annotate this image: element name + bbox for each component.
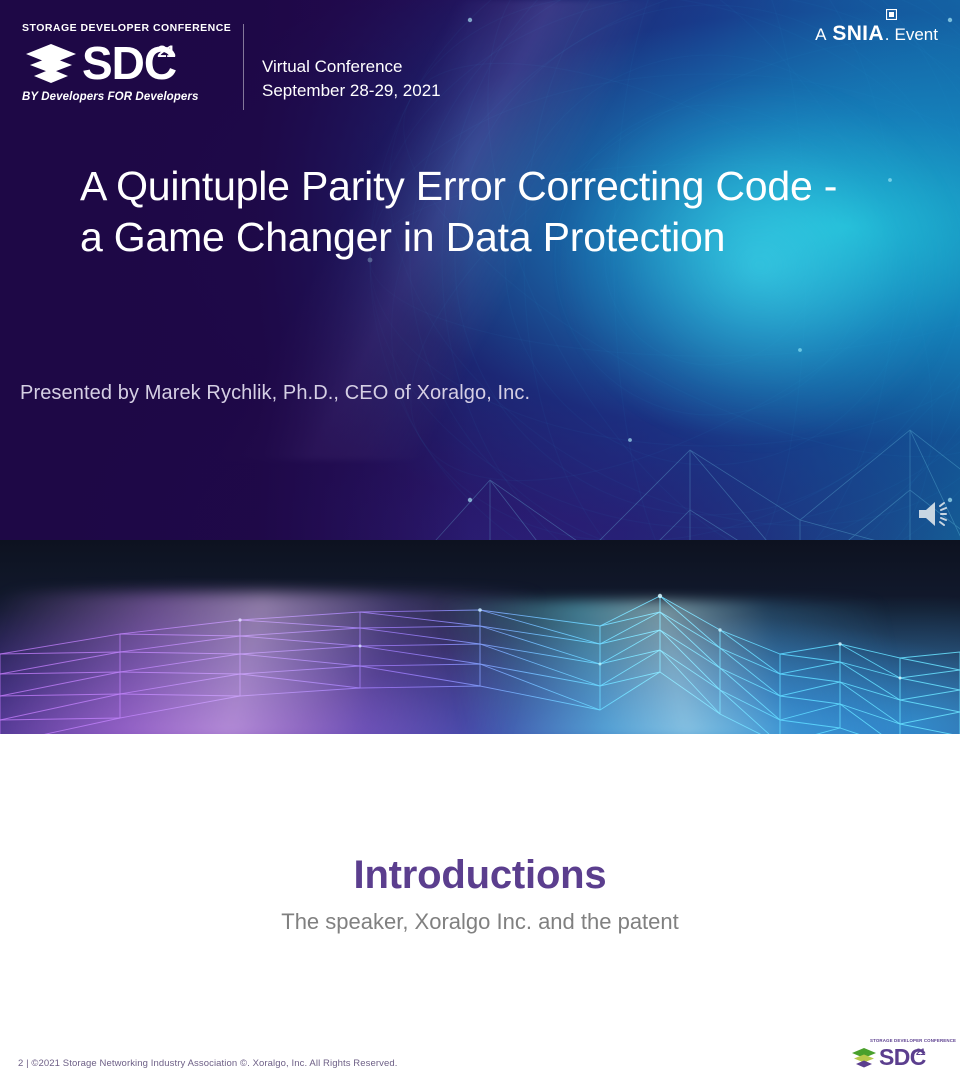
layers-stack-icon: [22, 40, 80, 86]
sdc-logo-tagline: BY Developers FOR Developers: [22, 90, 234, 104]
page-title: A Quintuple Parity Error Correcting Code…: [80, 161, 870, 263]
header-divider: [243, 24, 244, 110]
sdc-footer-logo-sd: SD: [879, 1044, 910, 1070]
snia-event-logo: A SNIA . Event: [815, 22, 938, 48]
sdc-logo-year: 21: [157, 43, 175, 60]
sdc-footer-logo: STORAGE DEVELOPER CONFERENCE SDC21: [850, 1038, 946, 1072]
sdc-logo: STORAGE DEVELOPER CONFERENCE SDC21 BY De…: [22, 22, 234, 112]
section-slide: Introductions The speaker, Xoralgo Inc. …: [0, 540, 960, 1080]
sdc-logo-c-wrap: C21: [144, 40, 176, 86]
presenter-line: Presented by Marek Rychlik, Ph.D., CEO o…: [20, 379, 840, 407]
snia-wordmark: SNIA: [832, 22, 883, 46]
sdc-footer-logo-c-wrap: C21: [910, 1046, 926, 1069]
sdc-footer-logo-letters: SDC21: [879, 1046, 926, 1069]
conference-dates: September 28-29, 2021: [262, 79, 441, 103]
snia-dot: .: [885, 25, 890, 45]
snia-prefix: A: [815, 25, 826, 45]
sdc-logo-kicker: STORAGE DEVELOPER CONFERENCE: [22, 22, 234, 35]
title-slide: STORAGE DEVELOPER CONFERENCE SDC21 BY De…: [0, 0, 960, 540]
banner-image: [0, 540, 960, 734]
sdc-footer-logo-year: 21: [916, 1048, 925, 1057]
section-subtitle: The speaker, Xoralgo Inc. and the patent: [0, 907, 960, 937]
speaker-audio-icon[interactable]: [915, 497, 955, 531]
sdc-logo-sd: SD: [82, 37, 144, 89]
sdc-logo-letters: SDC21: [82, 40, 176, 86]
slide-footer: 2 | ©2021 Storage Networking Industry As…: [18, 1058, 398, 1069]
section-title: Introductions: [0, 851, 960, 899]
cyan-light-beam: [430, 600, 960, 734]
layers-stack-icon: [850, 1046, 878, 1068]
conference-type: Virtual Conference: [262, 55, 441, 79]
snia-pixel-mark-icon: [886, 9, 897, 20]
conference-info: Virtual Conference September 28-29, 2021: [262, 55, 441, 103]
sdc-footer-logo-mark: SDC21: [850, 1045, 946, 1069]
snia-suffix: Event: [895, 25, 938, 45]
sdc-logo-mark: SDC21: [22, 37, 234, 89]
